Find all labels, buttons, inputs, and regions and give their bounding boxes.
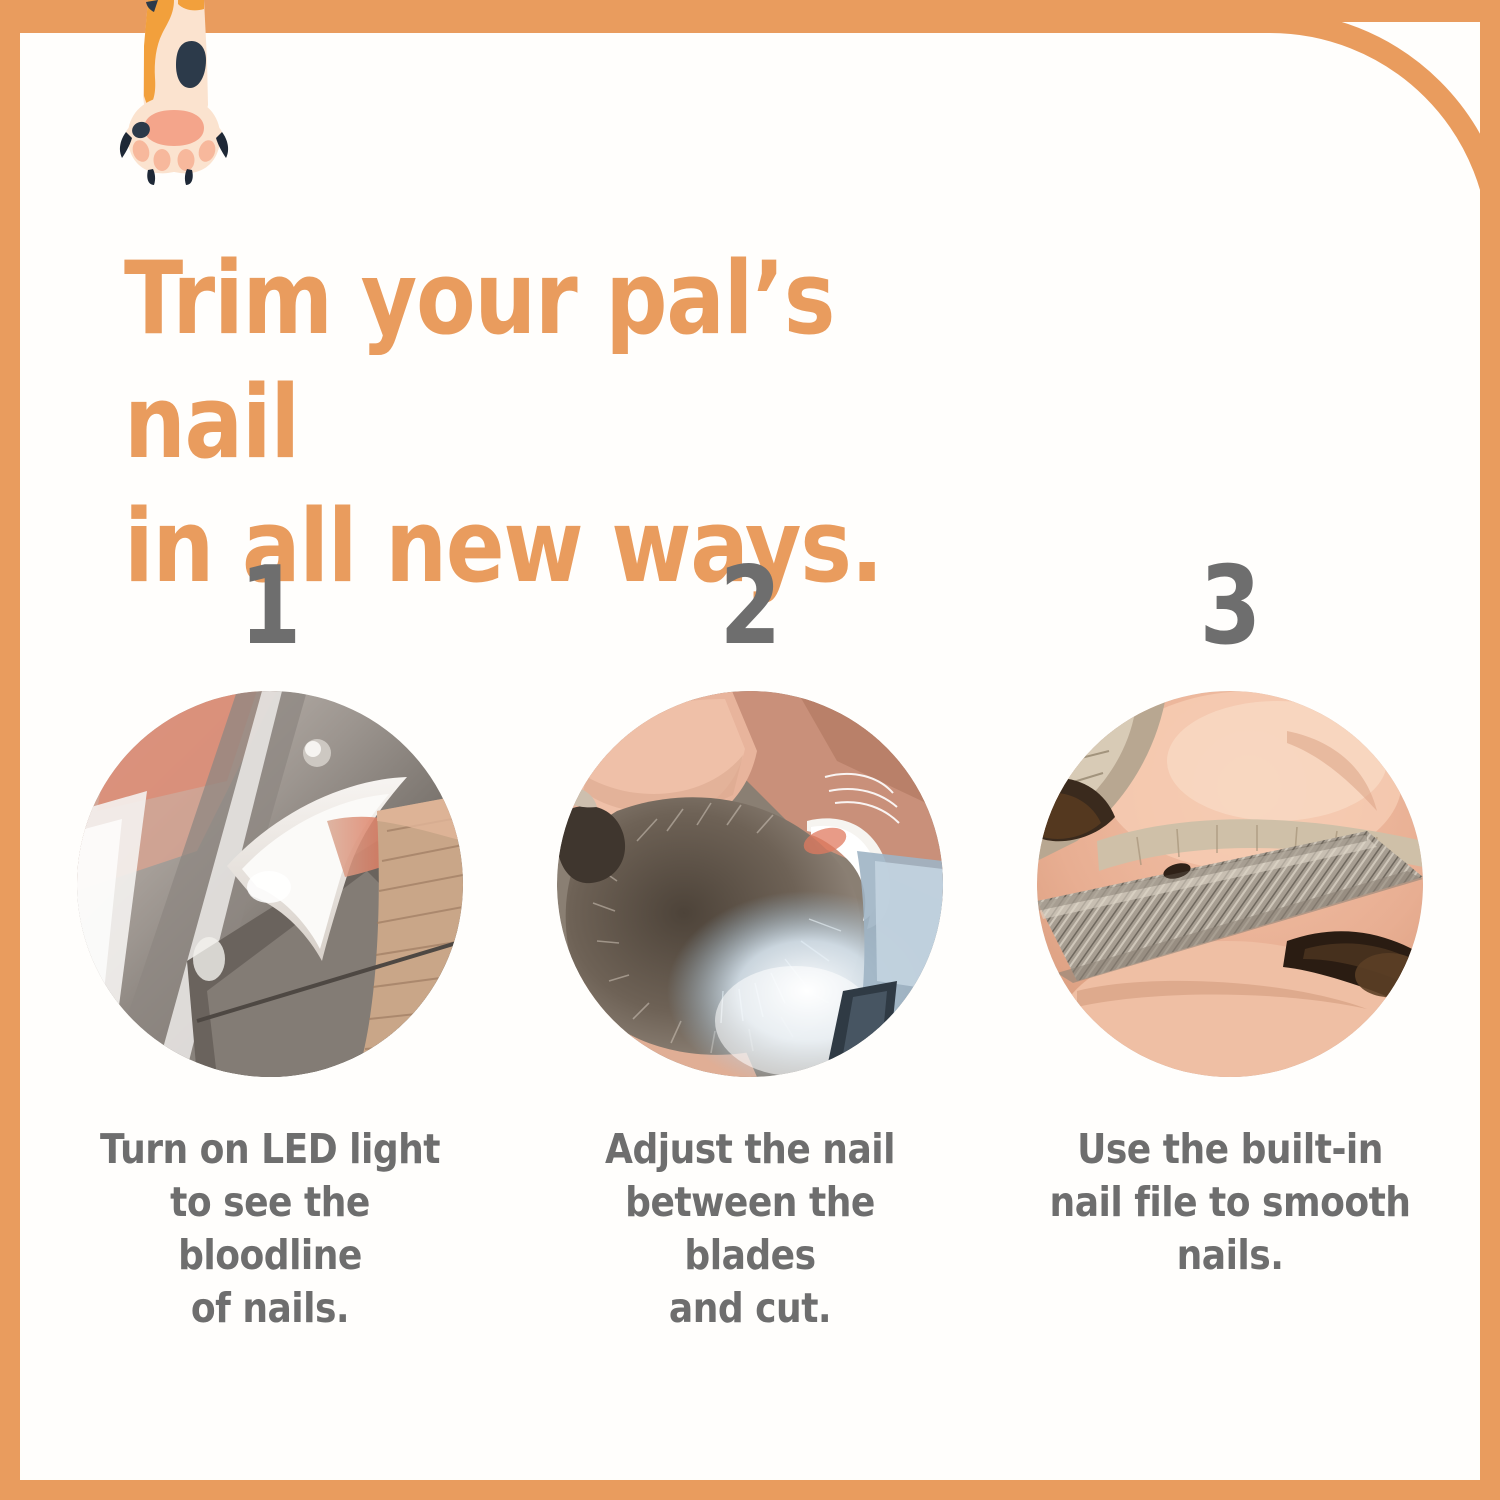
adjust-nail-between-blades-photo xyxy=(557,691,943,1077)
step-1: 1 xyxy=(77,555,463,1335)
led-light-bloodline-photo xyxy=(77,691,463,1077)
step-3: 3 xyxy=(1037,555,1423,1335)
step-caption-3: Use the built-in nail file to smooth nai… xyxy=(1041,1123,1419,1282)
nail-file-smooth-photo xyxy=(1037,691,1423,1077)
step-number-3: 3 xyxy=(1200,555,1260,659)
promo-graphic: Trim your pal’s nail in all new ways. 1 xyxy=(0,0,1500,1500)
step-caption-1: Turn on LED light to see the bloodline o… xyxy=(81,1123,459,1335)
step-2: 2 xyxy=(557,555,943,1335)
cat-paw-icon xyxy=(118,0,230,185)
step-number-2: 2 xyxy=(720,555,780,659)
step-number-1: 1 xyxy=(240,555,300,659)
steps-row: 1 xyxy=(0,555,1500,1335)
step-caption-2: Adjust the nail between the blades and c… xyxy=(561,1123,939,1335)
